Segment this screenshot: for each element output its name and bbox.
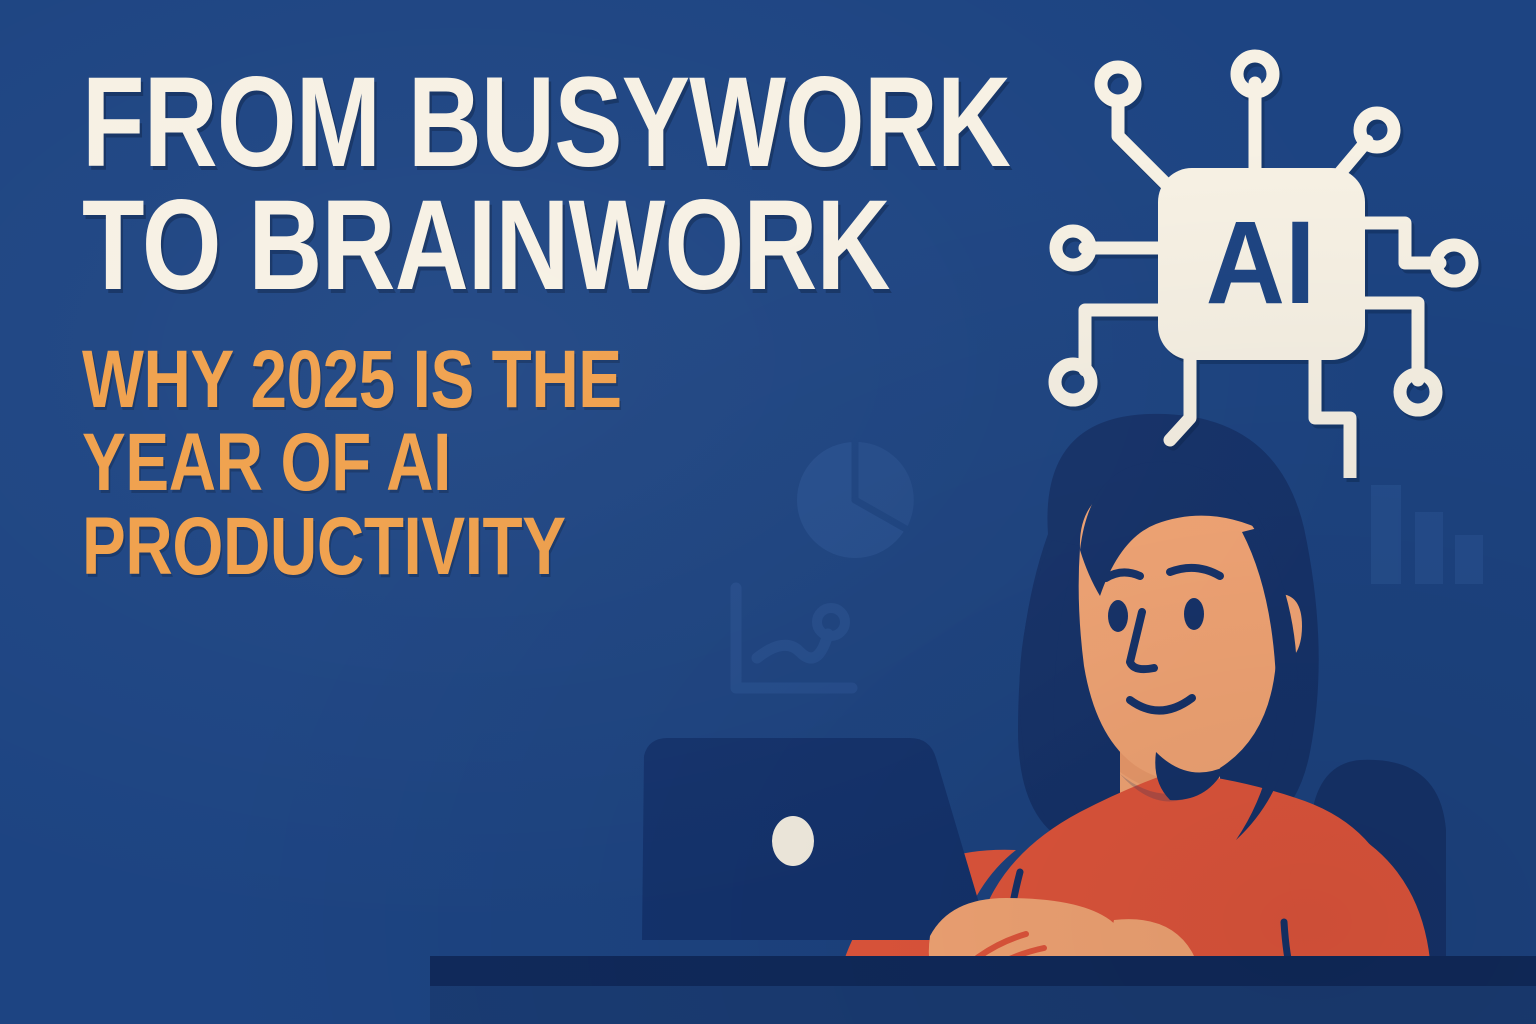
laptop — [642, 738, 990, 940]
headline-block: FROM BUSYWORK TO BRAINWORK WHY 2025 IS T… — [82, 62, 982, 589]
subtitle-line-3: PRODUCTIVITY — [82, 505, 802, 589]
page-title: FROM BUSYWORK TO BRAINWORK — [82, 62, 802, 308]
headline-line-2: TO BRAINWORK — [82, 185, 802, 308]
ai-chip-label: AI — [1206, 197, 1316, 329]
subtitle-line-2: YEAR OF AI — [82, 421, 802, 505]
desk — [430, 956, 1536, 1024]
headline-line-1: FROM BUSYWORK — [82, 51, 1010, 194]
poster-canvas: FROM BUSYWORK TO BRAINWORK WHY 2025 IS T… — [0, 0, 1536, 1024]
subtitle: WHY 2025 IS THE YEAR OF AI PRODUCTIVITY — [82, 338, 802, 589]
laptop-logo — [772, 816, 814, 866]
ai-chip-icon: AI — [1030, 48, 1490, 478]
subtitle-line-1: WHY 2025 IS THE — [82, 338, 802, 422]
